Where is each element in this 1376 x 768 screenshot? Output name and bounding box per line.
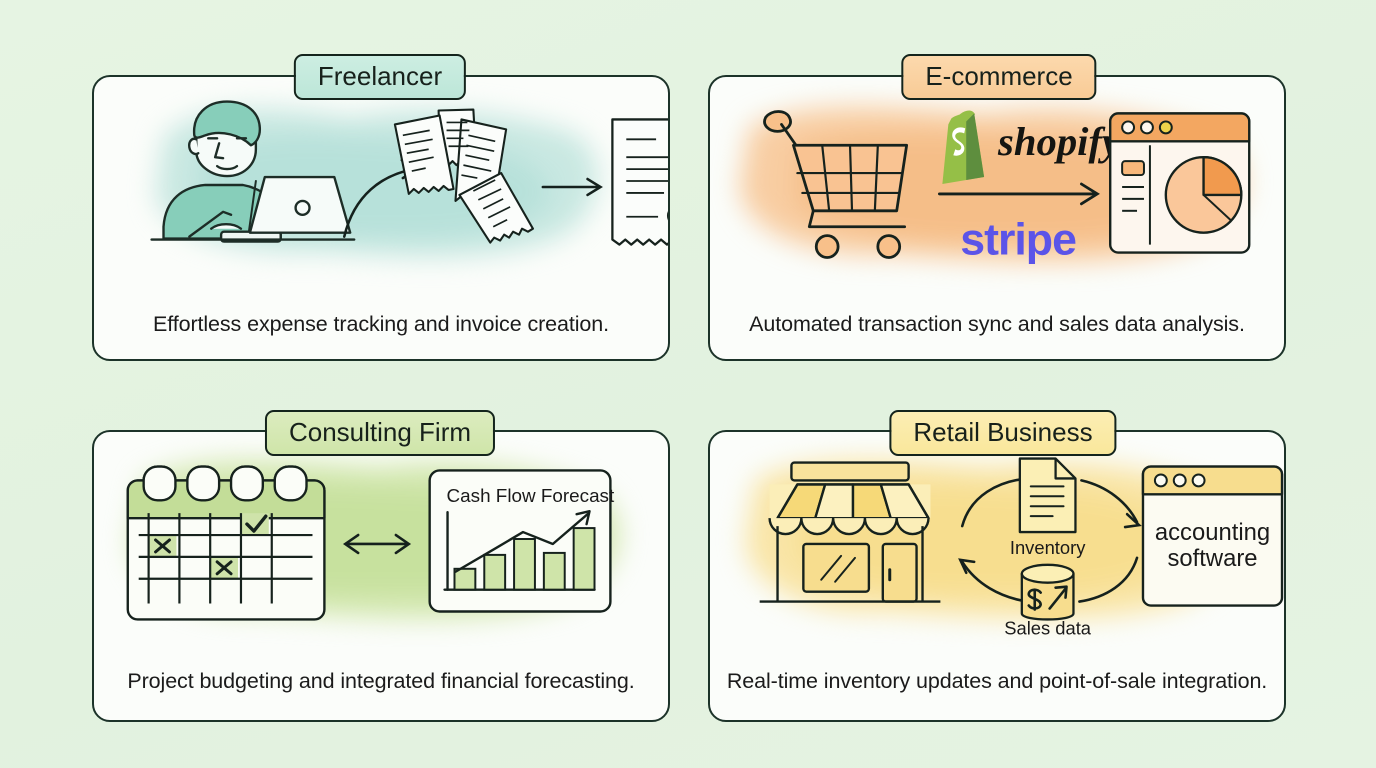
shopify-wordmark: shopify: [997, 119, 1121, 164]
badge-ecommerce[interactable]: E-commerce: [901, 54, 1096, 100]
invoice-icon: [612, 119, 668, 244]
freelancer-illustration: [94, 77, 668, 292]
flow-label-inventory: Inventory: [1010, 537, 1086, 558]
flow-label-sales-data: Sales data: [1004, 617, 1092, 638]
retail-illustration: Inventory Sales data: [710, 432, 1284, 647]
badge-freelancer[interactable]: Freelancer: [294, 54, 466, 100]
badge-consulting[interactable]: Consulting Firm: [265, 410, 495, 456]
dashboard-pie-chart-icon: [1110, 113, 1249, 252]
panel-consulting[interactable]: Cash Flow Forecast: [92, 430, 670, 722]
window-line-2: software: [1167, 545, 1257, 572]
consulting-illustration: Cash Flow Forecast: [94, 432, 668, 647]
stripe-wordmark: stripe: [960, 216, 1076, 265]
chart-title: Cash Flow Forecast: [447, 485, 615, 506]
panel-caption: Real-time inventory updates and point-of…: [710, 669, 1284, 694]
panel-caption: Project budgeting and integrated financi…: [94, 669, 668, 694]
window-line-1: accounting: [1155, 519, 1270, 546]
panel-caption: Effortless expense tracking and invoice …: [94, 312, 668, 337]
panel-caption: Automated transaction sync and sales dat…: [710, 312, 1284, 337]
panel-ecommerce[interactable]: shopify stripe: [708, 75, 1286, 361]
infographic-canvas: Effortless expense tracking and invoice …: [0, 0, 1376, 768]
panel-freelancer[interactable]: Effortless expense tracking and invoice …: [92, 75, 670, 361]
document-icon: [1020, 459, 1076, 532]
badge-retail[interactable]: Retail Business: [889, 410, 1116, 456]
calendar-icon: [128, 467, 325, 620]
ecommerce-illustration: shopify stripe: [710, 77, 1284, 292]
cash-flow-forecast-chart: Cash Flow Forecast: [430, 470, 615, 611]
database-dollar-icon: [1022, 565, 1074, 620]
panel-retail[interactable]: Inventory Sales data: [708, 430, 1286, 722]
